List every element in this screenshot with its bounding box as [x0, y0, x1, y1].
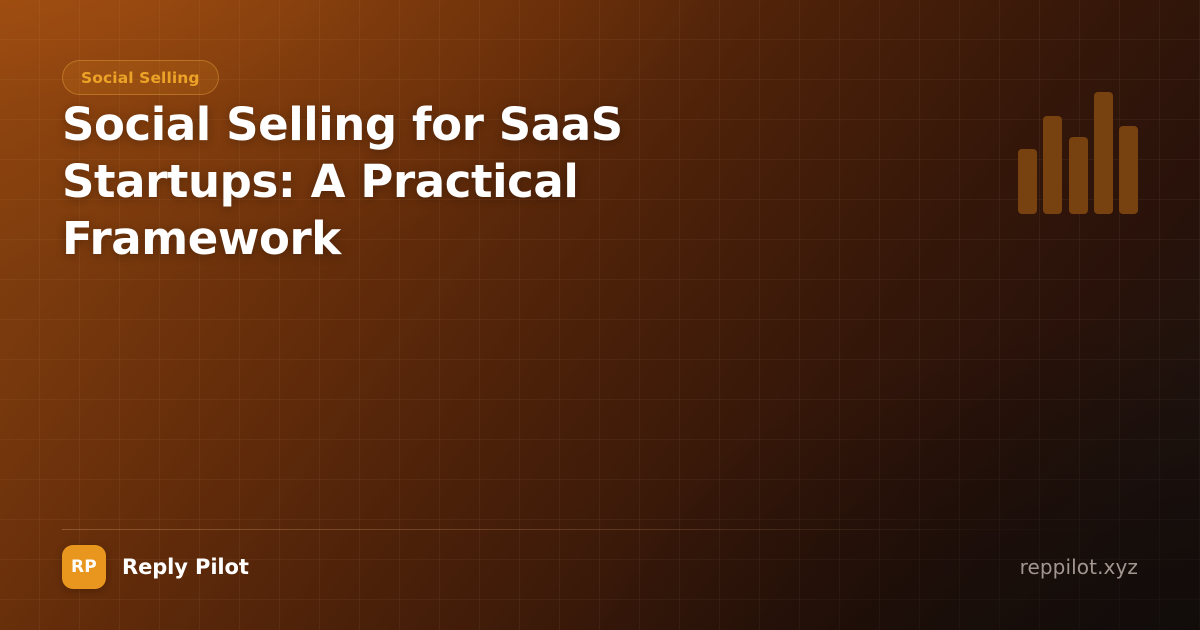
chart-bar [1069, 137, 1088, 214]
card-footer: RP Reply Pilot reppilot.xyz [62, 543, 1138, 591]
footer-divider [62, 529, 1138, 530]
category-badge: Social Selling [62, 60, 219, 95]
bar-chart-bars [1018, 92, 1138, 214]
site-url: reppilot.xyz [1020, 555, 1138, 579]
chart-bar [1094, 92, 1113, 214]
chart-bar [1043, 116, 1062, 214]
card-content: Social Selling Social Selling for SaaS S… [0, 0, 1200, 630]
chart-bar [1018, 149, 1037, 214]
bar-chart-decoration [1018, 92, 1138, 214]
chart-bar [1119, 126, 1138, 214]
logo-icon: RP [62, 545, 106, 589]
brand-name: Reply Pilot [122, 555, 249, 579]
brand-lockup: RP Reply Pilot [62, 545, 249, 589]
page-title: Social Selling for SaaS Startups: A Prac… [62, 96, 862, 267]
og-share-card: Social Selling Social Selling for SaaS S… [0, 0, 1200, 630]
